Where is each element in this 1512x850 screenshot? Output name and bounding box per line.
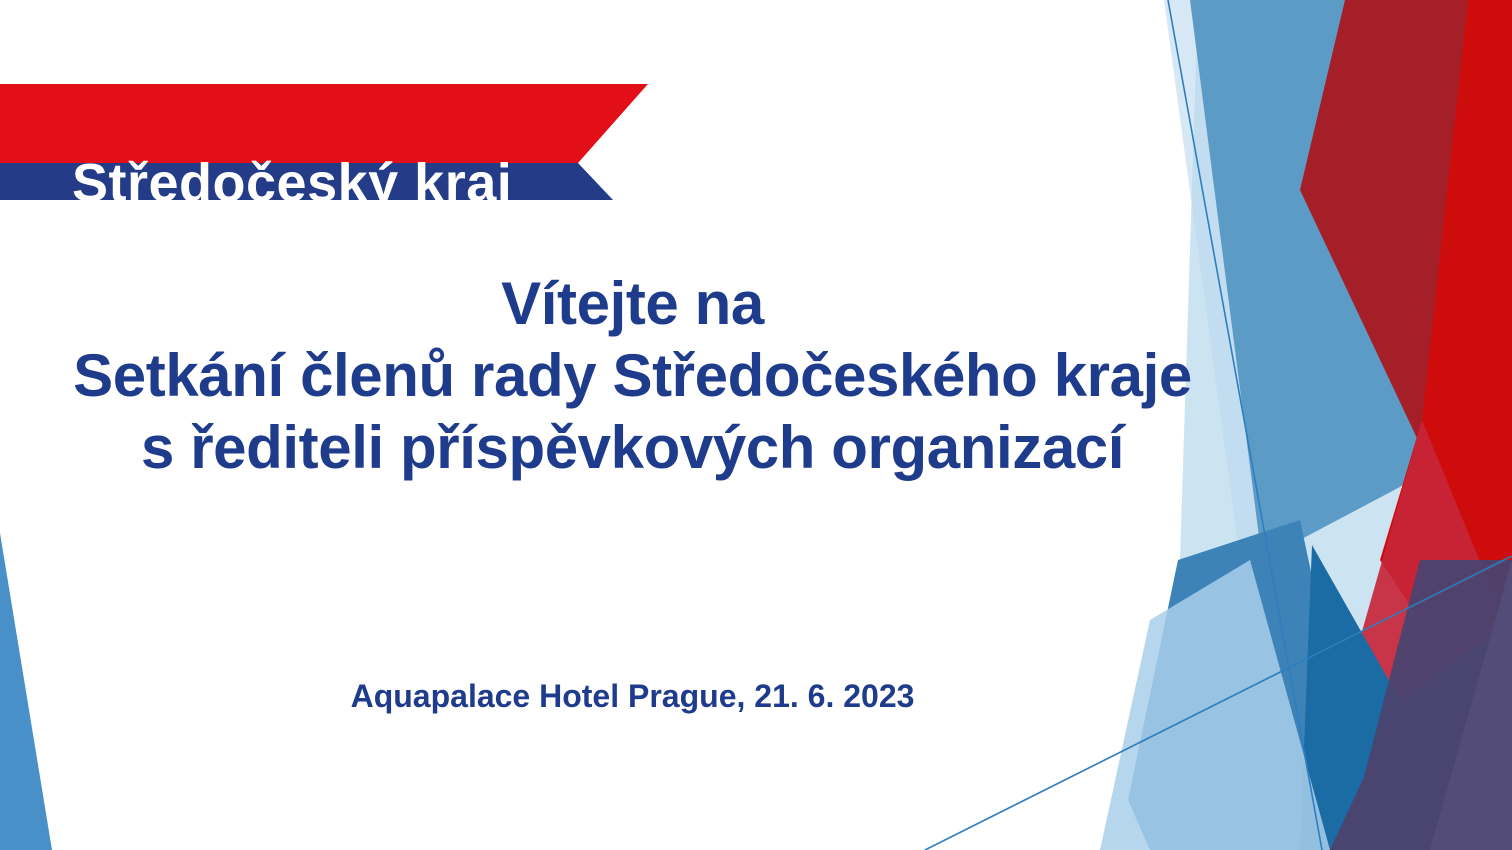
dark-red-upper-shape xyxy=(1300,0,1480,470)
subtitle-container: Aquapalace Hotel Prague, 21. 6. 2023 xyxy=(0,678,1265,715)
purple-navy-shape xyxy=(1330,620,1512,850)
title-line-3: s řediteli příspěvkových organizací xyxy=(0,412,1265,484)
presentation-slide: Středočeský kraj Vítejte na Setkání člen… xyxy=(0,0,1512,850)
deep-blue-wedge xyxy=(1300,545,1400,850)
bright-red-shape xyxy=(1380,0,1512,760)
purple-navy-shape-3 xyxy=(1430,560,1512,850)
title-line-2: Setkání členů rady Středočeského kraje xyxy=(0,340,1265,412)
purple-navy-shape-2 xyxy=(1345,560,1512,850)
logo-red-band xyxy=(0,84,648,163)
subtitle-text: Aquapalace Hotel Prague, 21. 6. 2023 xyxy=(0,678,1265,715)
page-title: Vítejte na Setkání členů rady Středočesk… xyxy=(0,268,1265,484)
logo-text: Středočeský kraj xyxy=(72,156,512,210)
title-line-1: Vítejte na xyxy=(0,268,1265,340)
crimson-red-wedge xyxy=(1300,420,1512,850)
region-logo: Středočeský kraj xyxy=(0,70,680,210)
